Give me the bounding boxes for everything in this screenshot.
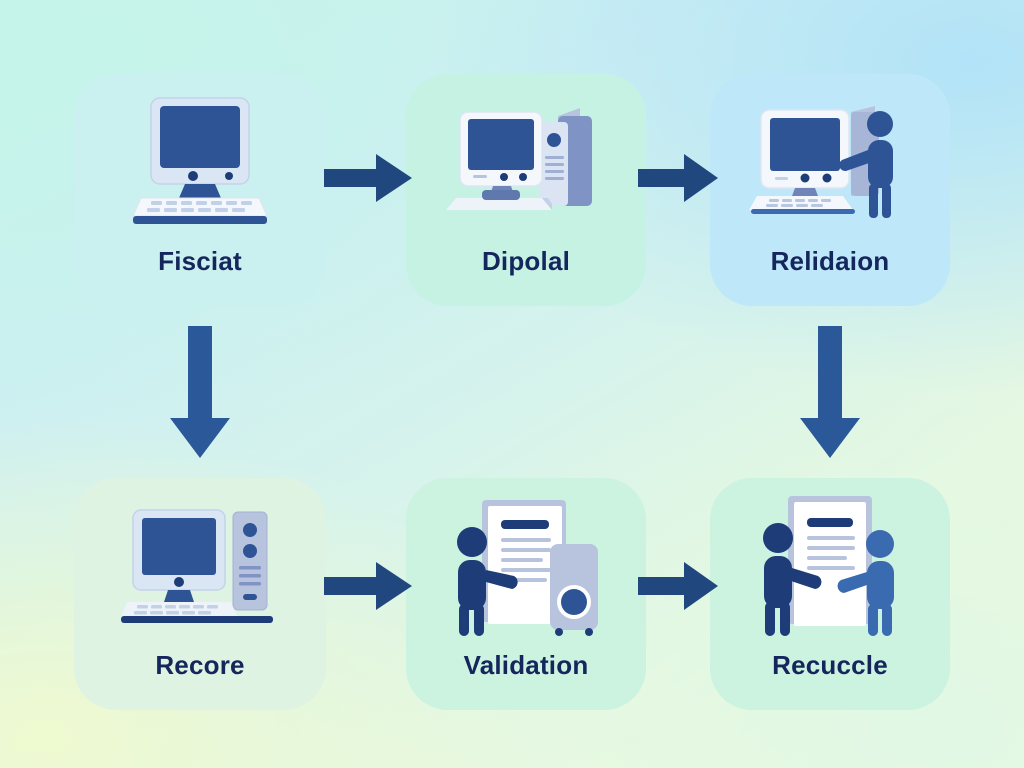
arrow-right-bottom-1 <box>324 562 412 610</box>
node-card-fisciat[interactable]: Fisciat <box>74 74 326 306</box>
node-label-recore: Recore <box>155 650 244 681</box>
diagram-canvas: Fisciat <box>0 0 1024 768</box>
node-card-recuccle[interactable]: Recuccle <box>710 478 950 710</box>
arrow-right-bottom-2 <box>638 562 718 610</box>
node-label-relidaion: Relidaion <box>771 246 890 277</box>
arrow-right-top-2 <box>638 154 718 202</box>
node-label-fisciat: Fisciat <box>158 246 242 277</box>
node-label-dipolal: Dipolal <box>482 246 570 277</box>
node-card-recore[interactable]: Recore <box>74 478 326 710</box>
node-label-recuccle: Recuccle <box>772 650 888 681</box>
desktop-tower-setup-icon <box>74 478 326 650</box>
node-card-validation[interactable]: Validation <box>406 478 646 710</box>
node-label-validation: Validation <box>464 650 589 681</box>
arrow-down-left <box>170 326 230 458</box>
arrow-right-top-1 <box>324 154 412 202</box>
node-card-relidaion[interactable]: Relidaion <box>710 74 950 306</box>
arrow-down-right <box>800 326 860 458</box>
person-with-document-icon <box>406 478 646 650</box>
node-card-dipolal[interactable]: Dipolal <box>406 74 646 306</box>
computer-with-tower-icon <box>406 74 646 246</box>
handshake-over-document-icon <box>710 478 950 650</box>
desktop-computer-icon <box>74 74 326 246</box>
person-at-computer-icon <box>710 74 950 246</box>
